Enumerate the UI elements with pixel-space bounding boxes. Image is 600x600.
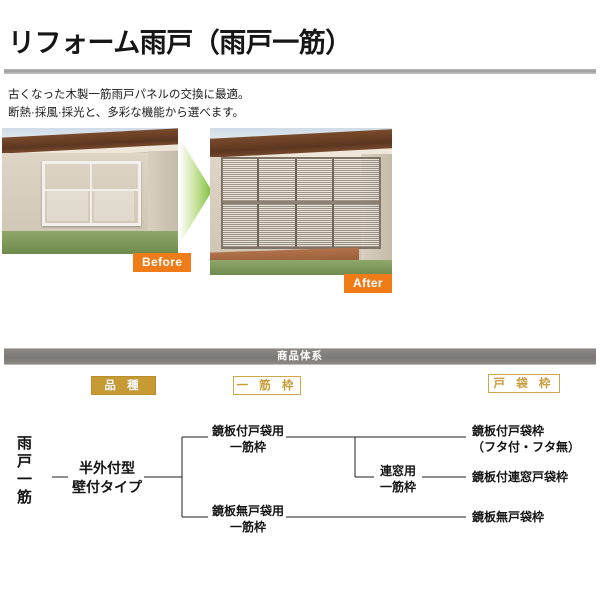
reform-shutter-panels (221, 157, 381, 248)
section-header-title: 商品体系 (4, 349, 596, 364)
tree-branch-top-line-2: 一筋枠 (210, 439, 286, 455)
before-after-gallery: Before After (0, 128, 600, 313)
after-photo (210, 128, 392, 275)
caption-hinshu: 品 種 (91, 376, 156, 395)
tree-leaf-kagamiita-nashi: 鏡板無戸袋枠 (472, 509, 544, 525)
tree-root-label: 雨戸一筋 (16, 435, 31, 507)
title-divider (4, 69, 596, 74)
tree-type-line-1: 半外付型 (70, 459, 144, 478)
tree-middle-line-1: 連窓用 (374, 463, 422, 479)
tree-branch-bottom: 鏡板無戸袋用 一筋枠 (210, 503, 286, 535)
tree-branch-top-line-1: 鏡板付戸袋用 (210, 423, 286, 439)
page-title: リフォーム雨戸（雨戸一筋） (8, 30, 352, 57)
caption-hitosuji-waku: 一 筋 枠 (233, 376, 301, 395)
tree-middle-line-2: 一筋枠 (374, 479, 422, 495)
description-line-2: 断熱·採風·採光と、多彩な機能から選べます。 (8, 104, 250, 122)
window-pane (94, 191, 135, 222)
tree-leaf-1-line-1: 鏡板付戸袋枠 (472, 423, 580, 439)
footer-spacer (0, 560, 600, 600)
tree-branch-bottom-line-1: 鏡板無戸袋用 (210, 503, 286, 519)
description-line-1: 古くなった木製一筋雨戸パネルの交換に最適。 (8, 86, 250, 104)
hedge-region (2, 231, 178, 254)
page-root: リフォーム雨戸（雨戸一筋） 古くなった木製一筋雨戸パネルの交換に最適。 断熱·採… (0, 0, 600, 600)
tree-leaf-1-line-2: （フタ付・フタ無） (472, 439, 580, 455)
tree-branch-bottom-line-2: 一筋枠 (210, 519, 286, 535)
caption-tobukuro-waku: 戸 袋 枠 (488, 374, 560, 393)
window-pane (47, 191, 88, 222)
shutter-rail (223, 201, 379, 204)
transition-arrow-icon (179, 131, 213, 251)
tree-branch-top: 鏡板付戸袋用 一筋枠 (210, 423, 286, 455)
glass-sliding-door (42, 161, 141, 227)
tree-leaf-kagamiita-renso: 鏡板付連窓戸袋枠 (472, 469, 568, 485)
section-header-bar: 商品体系 (4, 348, 596, 365)
tree-middle-renso: 連窓用 一筋枠 (374, 463, 422, 495)
tree-type-node: 半外付型 壁付タイプ (70, 459, 144, 497)
after-badge: After (344, 274, 392, 293)
before-badge: Before (133, 253, 191, 272)
hedge-region (210, 260, 392, 275)
tree-leaf-kagamiita-tsuki: 鏡板付戸袋枠 （フタ付・フタ無） (472, 423, 580, 455)
product-hierarchy-diagram: 雨戸一筋 半外付型 壁付タイプ 鏡板付戸袋用 一筋枠 鏡板無戸袋用 一筋枠 連窓… (0, 415, 600, 555)
before-photo (2, 128, 178, 254)
page-description: 古くなった木製一筋雨戸パネルの交換に最適。 断熱·採風·採光と、多彩な機能から選… (8, 86, 250, 122)
window-mullion (90, 164, 92, 224)
tree-type-line-2: 壁付タイプ (70, 478, 144, 497)
